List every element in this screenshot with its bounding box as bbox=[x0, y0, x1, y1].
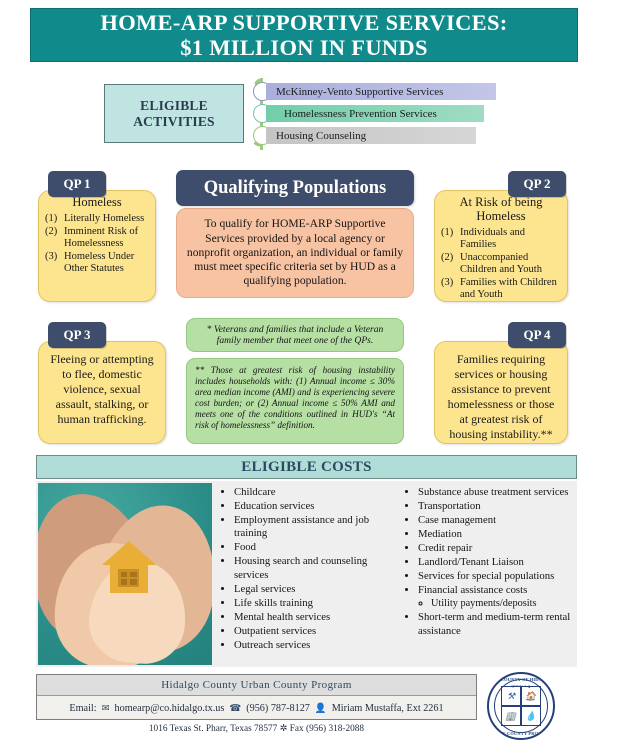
home-icon: 🏠 bbox=[521, 686, 541, 706]
eligible-activities-label: ELIGIBLE ACTIVITIES bbox=[133, 98, 215, 130]
list-item: Outreach services bbox=[234, 639, 392, 652]
list-item: Employment assistance and job training bbox=[234, 514, 392, 541]
list-item: Short-term and medium-term rental assist… bbox=[418, 611, 576, 638]
list-item: Outpatient services bbox=[234, 625, 392, 638]
list-item: Services for special populations bbox=[418, 570, 576, 583]
list-item: (3)Families with Children and Youth bbox=[441, 277, 563, 302]
list-item: (2)Imminent Risk of Homelessness bbox=[45, 226, 151, 251]
item-number: (1) bbox=[45, 213, 60, 225]
cost-list-right: Substance abuse treatment services Trans… bbox=[402, 486, 576, 638]
house-roof bbox=[102, 541, 156, 565]
qp4-tab-label: QP 4 bbox=[523, 327, 550, 343]
eligible-activities-box: ELIGIBLE ACTIVITIES bbox=[104, 84, 244, 143]
list-item: Education services bbox=[234, 500, 392, 513]
list-item: Mental health services bbox=[234, 611, 392, 624]
activity-label: McKinney-Vento Supportive Services bbox=[276, 86, 443, 98]
list-item: Life skills training bbox=[234, 597, 392, 610]
footer-contact-box: Hidalgo County Urban County Program Emai… bbox=[36, 674, 477, 720]
house-window bbox=[118, 569, 139, 587]
list-item: Case management bbox=[418, 514, 576, 527]
eligible-costs-columns: Childcare Education services Employment … bbox=[218, 483, 576, 665]
qp3-card: Fleeing or attempting to flee, domestic … bbox=[38, 341, 166, 444]
list-item: Substance abuse treatment services bbox=[418, 486, 576, 499]
water-drop-icon: 💧 bbox=[521, 706, 541, 726]
qp4-body: Families requiring services or housing a… bbox=[435, 342, 567, 444]
qp1-tab: QP 1 bbox=[48, 171, 106, 197]
list-item: (1)Individuals and Families bbox=[441, 227, 563, 252]
footer-phone-value: (956) 787-8127 bbox=[246, 703, 310, 714]
item-text: Individuals and Families bbox=[460, 227, 563, 252]
list-item: Mediation bbox=[418, 528, 576, 541]
qp1-card: Homeless (1)Literally Homeless (2)Immine… bbox=[38, 190, 156, 302]
page-title: HOME-ARP SUPPORTIVE SERVICES: $1 MILLION… bbox=[100, 10, 507, 60]
housing-instability-note-text: ** Those at greatest risk of housing ins… bbox=[195, 365, 395, 430]
item-text: Financial assistance costs bbox=[418, 584, 527, 596]
activity-item-2: Homelessness Prevention Services bbox=[266, 105, 484, 122]
activity-item-1: McKinney-Vento Supportive Services bbox=[266, 83, 496, 100]
footer-email-label: Email: bbox=[69, 703, 96, 714]
item-number: (3) bbox=[441, 277, 456, 302]
qp1-list: (1)Literally Homeless (2)Imminent Risk o… bbox=[39, 211, 155, 275]
qualifying-populations-banner: Qualifying Populations bbox=[176, 170, 414, 206]
qp2-list: (1)Individuals and Families (2)Unaccompa… bbox=[435, 225, 567, 302]
page-left-edge bbox=[0, 0, 7, 733]
item-text: Imminent Risk of Homelessness bbox=[64, 226, 151, 251]
veterans-note: * Veterans and families that include a V… bbox=[186, 318, 404, 352]
infographic-page: HOME-ARP SUPPORTIVE SERVICES: $1 MILLION… bbox=[0, 0, 638, 733]
eligible-activities-section: ELIGIBLE ACTIVITIES McKinney-Vento Suppo… bbox=[104, 78, 496, 150]
sub-list-item: Utility payments/deposits bbox=[431, 597, 576, 610]
item-number: (2) bbox=[441, 252, 456, 277]
eligible-costs-header: ELIGIBLE COSTS bbox=[36, 455, 577, 479]
qualifying-populations-title: Qualifying Populations bbox=[204, 178, 386, 199]
item-text: Homeless Under Other Statutes bbox=[64, 251, 151, 276]
veterans-note-text: * Veterans and families that include a V… bbox=[195, 324, 395, 347]
envelope-icon: ✉ bbox=[102, 703, 110, 714]
list-item: Legal services bbox=[234, 583, 392, 596]
tools-icon: ⚒ bbox=[501, 686, 521, 706]
footer-contact-person: Miriam Mustaffa, Ext 2261 bbox=[332, 703, 444, 714]
cost-sublist: Utility payments/deposits bbox=[418, 597, 576, 610]
seal-bottom-text: URBAN COUNTY PROGRAM bbox=[489, 731, 553, 736]
qualifying-populations-intro-box: To qualify for HOME-ARP Supportive Servi… bbox=[176, 208, 414, 298]
list-item: Childcare bbox=[234, 486, 392, 499]
list-item: (2)Unaccompanied Children and Youth bbox=[441, 252, 563, 277]
list-item: Credit repair bbox=[418, 542, 576, 555]
list-item: Transportation bbox=[418, 500, 576, 513]
qp4-tab: QP 4 bbox=[508, 322, 566, 348]
qp4-card: Families requiring services or housing a… bbox=[434, 341, 568, 444]
list-item: Landlord/Tenant Liaison bbox=[418, 556, 576, 569]
activity-label: Housing Counseling bbox=[276, 130, 366, 142]
activity-item-3: Housing Counseling bbox=[266, 127, 476, 144]
item-text: Unaccompanied Children and Youth bbox=[460, 252, 563, 277]
qualifying-populations-intro-text: To qualify for HOME-ARP Supportive Servi… bbox=[184, 217, 406, 288]
qp2-card: At Risk of being Homeless (1)Individuals… bbox=[434, 190, 568, 302]
list-item: (1)Literally Homeless bbox=[45, 213, 151, 225]
item-text: Literally Homeless bbox=[64, 213, 144, 225]
item-number: (2) bbox=[45, 226, 60, 251]
seal-quadrants: ⚒ 🏠 🏢 💧 bbox=[501, 686, 541, 726]
paper-house-icon bbox=[102, 541, 156, 593]
list-item: (3)Homeless Under Other Statutes bbox=[45, 251, 151, 276]
footer-email-value[interactable]: homearp@co.hidalgo.tx.us bbox=[115, 703, 225, 714]
list-item: Housing search and counseling services bbox=[234, 555, 392, 582]
qp2-tab: QP 2 bbox=[508, 171, 566, 197]
hidalgo-county-seal-logo: THE COUNTY OF HIDALGO TEXAS ⚒ 🏠 🏢 💧 URBA… bbox=[487, 672, 555, 740]
qp1-tab-label: QP 1 bbox=[63, 176, 90, 192]
person-icon: 👤 bbox=[315, 703, 327, 714]
page-title-bar: HOME-ARP SUPPORTIVE SERVICES: $1 MILLION… bbox=[30, 8, 578, 62]
footer-program-name: Hidalgo County Urban County Program bbox=[161, 679, 352, 691]
list-item: Food bbox=[234, 541, 392, 554]
phone-icon: ☎ bbox=[229, 703, 241, 714]
cost-list-left: Childcare Education services Employment … bbox=[218, 486, 392, 652]
eligible-costs-title: ELIGIBLE COSTS bbox=[241, 459, 372, 476]
housing-instability-note: ** Those at greatest risk of housing ins… bbox=[186, 358, 404, 444]
eligible-costs-column-right: Substance abuse treatment services Trans… bbox=[402, 483, 576, 665]
item-number: (3) bbox=[45, 251, 60, 276]
hands-holding-house-photo bbox=[38, 483, 212, 665]
qp3-body: Fleeing or attempting to flee, domestic … bbox=[39, 342, 165, 433]
qp3-tab-label: QP 3 bbox=[63, 327, 90, 343]
footer-contact-row: Email: ✉ homearp@co.hidalgo.tx.us ☎ (956… bbox=[37, 696, 476, 720]
qp3-tab: QP 3 bbox=[48, 322, 106, 348]
list-item: Financial assistance costs Utility payme… bbox=[418, 584, 576, 611]
activity-label: Homelessness Prevention Services bbox=[284, 108, 437, 120]
footer-program-row: Hidalgo County Urban County Program bbox=[37, 675, 476, 696]
item-text: Families with Children and Youth bbox=[460, 277, 563, 302]
qp2-tab-label: QP 2 bbox=[523, 176, 550, 192]
eligible-costs-column-left: Childcare Education services Employment … bbox=[218, 483, 392, 665]
seal-top-text: THE COUNTY OF HIDALGO bbox=[489, 677, 553, 682]
building-icon: 🏢 bbox=[501, 706, 521, 726]
footer-address: 1016 Texas St. Pharr, Texas 78577 ✲ Fax … bbox=[36, 723, 477, 734]
item-number: (1) bbox=[441, 227, 456, 252]
